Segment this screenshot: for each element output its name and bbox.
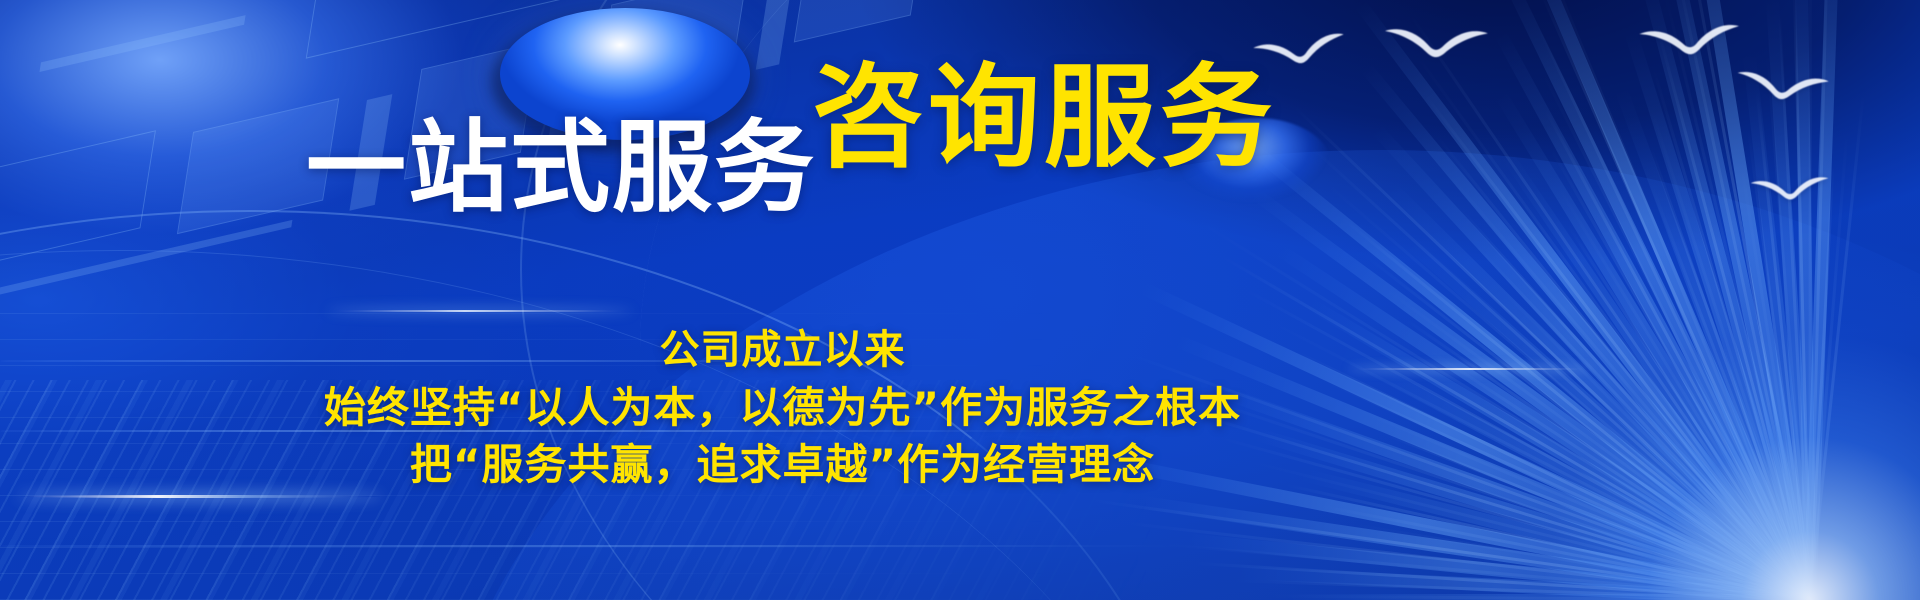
headline-primary: 一站式服务 [306, 118, 816, 218]
subtitle-line-2: 始终坚持“以人为本，以德为先”作为服务之根本 [0, 379, 1565, 436]
headline-accent: 咨询服务 [812, 62, 1276, 174]
promo-banner: 一站式服务 咨询服务 公司成立以来 始终坚持“以人为本，以德为先”作为服务之根本… [0, 0, 1920, 600]
subtitle-line-3: 把“服务共赢，追求卓越”作为经营理念 [0, 436, 1565, 493]
subtitle-line-1: 公司成立以来 [0, 322, 1565, 379]
headline-group: 一站式服务 咨询服务 [0, 0, 1920, 600]
subtitle-block: 公司成立以来 始终坚持“以人为本，以德为先”作为服务之根本 把“服务共赢，追求卓… [0, 322, 1565, 493]
